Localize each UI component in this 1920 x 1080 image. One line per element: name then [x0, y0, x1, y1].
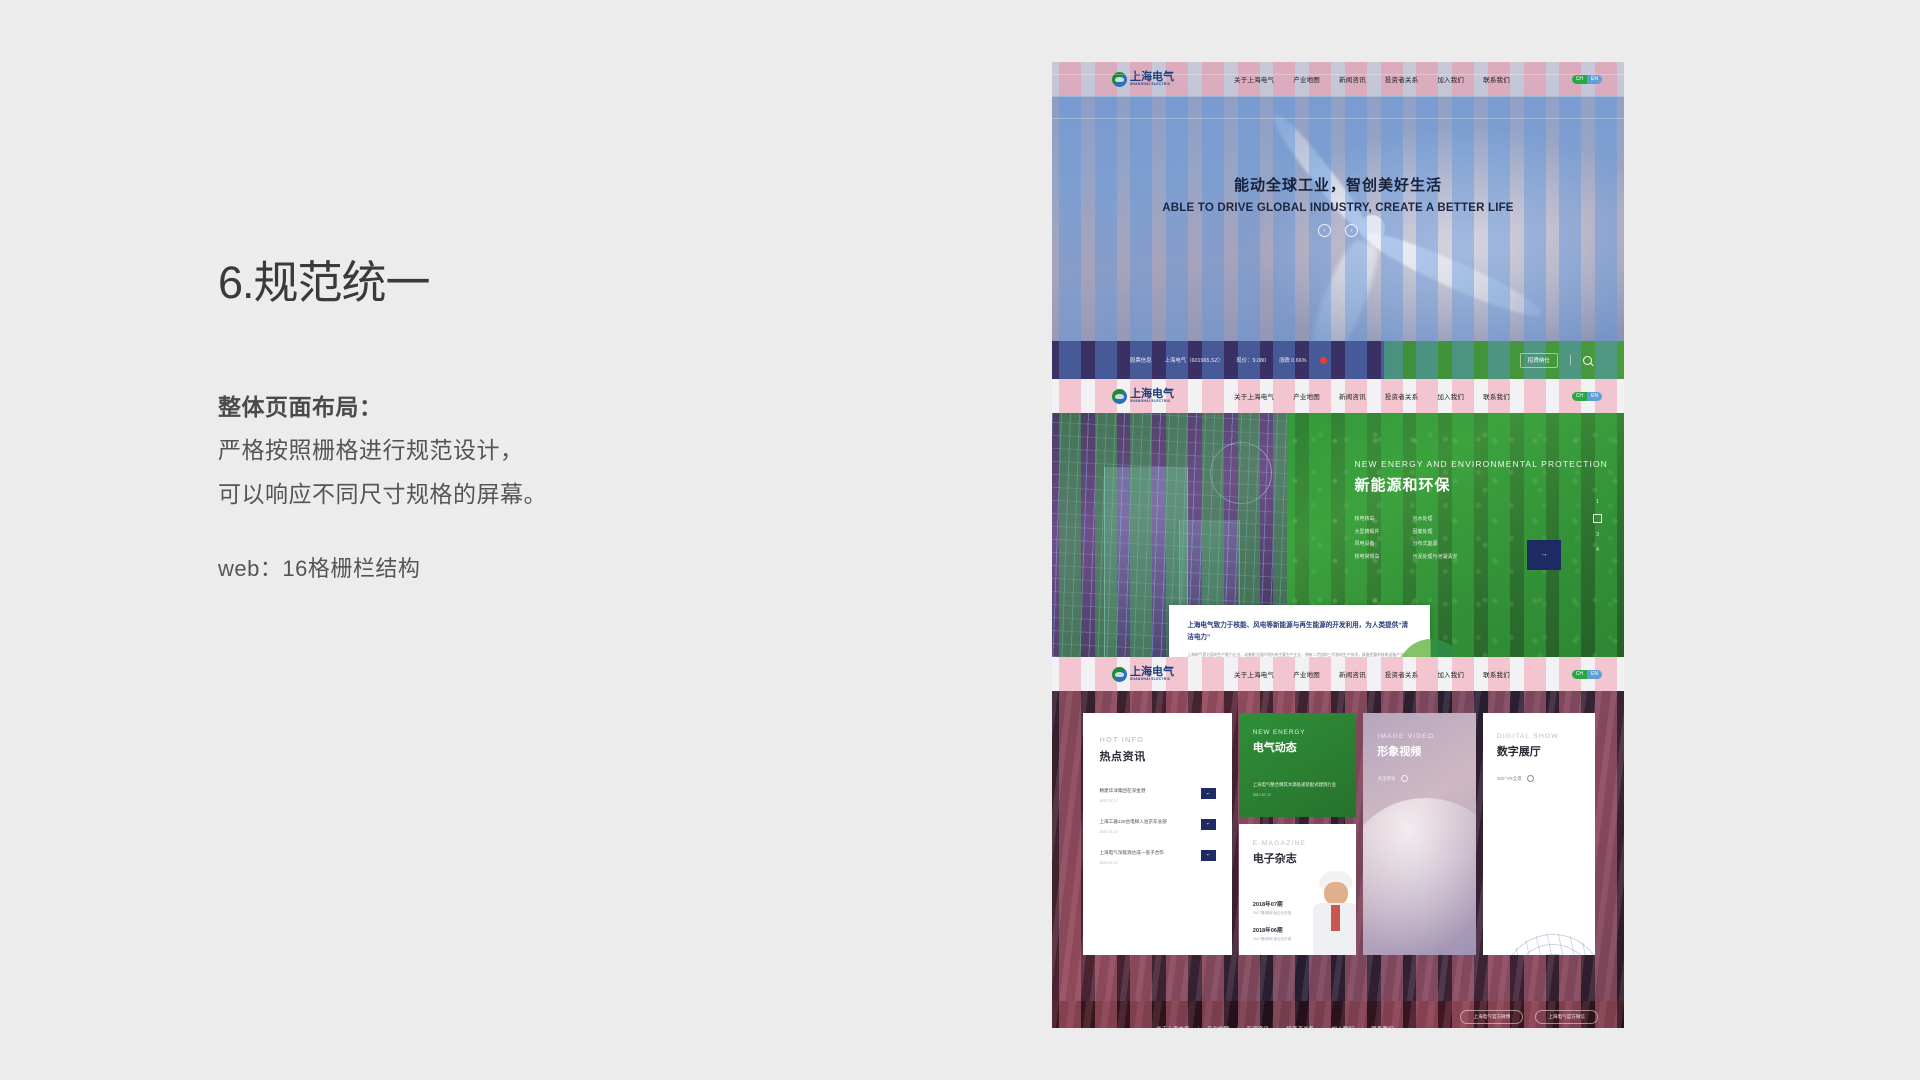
video-cta[interactable]: 点击预览: [1377, 775, 1462, 782]
list-item[interactable]: 固废处理: [1413, 528, 1458, 535]
section-pager: 1 3 4: [1593, 499, 1602, 553]
capability-list-left: 核电核岛 大型铸锻件 风电设备 核电常规岛: [1355, 515, 1380, 560]
video-title-cn: 形象视频: [1377, 743, 1462, 759]
hero-carousel-controls: ‹ ›: [1052, 224, 1624, 237]
nav-item-about[interactable]: 关于上海电气: [1234, 669, 1274, 679]
new-energy-capability-lists: 核电核岛 大型铸锻件 风电设备 核电常规岛 污水处理 固废处理 分布式能源 污泥…: [1355, 515, 1458, 560]
footer-link-contact[interactable]: 联系我们: [1371, 1025, 1393, 1028]
ticker-status-dot: [1320, 357, 1327, 364]
news-date: 2017-07-17: [1099, 830, 1194, 834]
globe-network-icon: [1501, 933, 1596, 955]
logo-label-en: SHANGHAI ELECTRIC: [1130, 678, 1174, 681]
nav-item-contact[interactable]: 联系我们: [1483, 74, 1510, 84]
footer-right: 上海电气官方微博 上海电气官方微信 欢迎访问上海电气网站，版权及登记问题本网站的…: [1460, 1010, 1598, 1028]
logo-icon: [1112, 667, 1127, 682]
vr-icon: [1527, 775, 1534, 782]
hot-info-title-en: HOT INFO: [1099, 735, 1215, 744]
new-energy-heading: NEW ENERGY AND ENVIRONMENTAL PROTECTION …: [1355, 459, 1608, 495]
digital-title-cn: 数字展厅: [1497, 743, 1582, 759]
carousel-prev-button[interactable]: ‹: [1318, 224, 1331, 237]
dynamic-title-en: NEW ENERGY: [1253, 729, 1343, 736]
digital-show-card[interactable]: DIGITAL SHOW 数字展厅 360°VR全景: [1483, 713, 1596, 955]
list-item[interactable]: 精建华洋集团在深金港 2017-07-17 ⌐: [1099, 788, 1215, 803]
dynamic-lede: 上海电气整合精其水源处递装配式建筑行业: [1253, 781, 1343, 788]
video-cta-label: 点击预览: [1377, 776, 1395, 782]
ticker-label: 股票信息: [1130, 356, 1152, 364]
nav-item-news[interactable]: 新闻咨讯: [1339, 391, 1366, 401]
ticker-actions: 招贤纳仕: [1520, 353, 1592, 368]
footer-link-about[interactable]: 关于上海电气: [1156, 1025, 1190, 1028]
nav-item-contact[interactable]: 联系我们: [1483, 391, 1510, 401]
logo-label-en: SHANGHAI ELECTRIC: [1130, 400, 1174, 403]
wind-turbine-image: [1052, 96, 1624, 341]
language-toggle[interactable]: CH EN: [1572, 670, 1602, 679]
slide-note: web：16格栅栏结构: [218, 551, 778, 583]
language-ch[interactable]: CH: [1572, 75, 1587, 84]
language-en[interactable]: EN: [1587, 75, 1602, 84]
footer-link-join-us[interactable]: 加入我们: [1332, 1025, 1354, 1028]
carousel-next-button[interactable]: ›: [1345, 224, 1358, 237]
slide-body-line-1: 严格按照栅格进行规范设计，: [218, 429, 778, 473]
divider: [1570, 355, 1571, 365]
recruit-button[interactable]: 招贤纳仕: [1520, 353, 1558, 368]
nav-links: 关于上海电气 产业地图 新闻咨讯 投资者关系 加入我们 联系我们: [1234, 391, 1510, 401]
navbar-primary: 上海电气 SHANGHAI ELECTRIC 关于上海电气 产业地图 新闻咨讯 …: [1052, 62, 1624, 96]
language-en[interactable]: EN: [1587, 392, 1602, 401]
slide-body-line-2: 可以响应不同尺寸规格的屏幕。: [218, 473, 778, 517]
language-en[interactable]: EN: [1587, 670, 1602, 679]
nav-item-news[interactable]: 新闻咨讯: [1339, 669, 1366, 679]
worker-photo: [1310, 867, 1356, 955]
footer-link-investor[interactable]: 投资者关系: [1286, 1025, 1314, 1028]
list-item[interactable]: 上海工器126台电梯入驻京东总部 2017-07-17 ⌐: [1099, 819, 1215, 834]
footer-links: 关于上海电气| 产业地图| 新闻资讯| 投资者关系| 加入我们| 联系我们: [1156, 1025, 1394, 1028]
nav-item-about[interactable]: 关于上海电气: [1234, 391, 1274, 401]
ticker-change: 涨跌 0.66%: [1279, 356, 1307, 364]
nav-item-join-us[interactable]: 加入我们: [1437, 669, 1464, 679]
hot-info-card: HOT INFO 热点资讯 精建华洋集团在深金港 2017-07-17 ⌐ 上海…: [1083, 713, 1231, 955]
dynamic-news-card[interactable]: NEW ENERGY 电气动态 上海电气整合精其水源处递装配式建筑行业 2017…: [1239, 713, 1357, 817]
nav-item-join-us[interactable]: 加入我们: [1437, 74, 1464, 84]
footer-social-buttons: 上海电气官方微博 上海电气官方微信: [1460, 1010, 1598, 1024]
news-title: 上海工器126台电梯入驻京东总部: [1099, 819, 1194, 826]
news-go-button[interactable]: ⌐: [1201, 788, 1216, 799]
emagazine-title-en: E-MAGAZINE: [1253, 840, 1343, 847]
nav-item-industry-map[interactable]: 产业地图: [1293, 669, 1320, 679]
nav-item-investor[interactable]: 投资者关系: [1385, 74, 1419, 84]
footer-link-news[interactable]: 新闻资讯: [1247, 1025, 1269, 1028]
news-title: 上海电气深能源达成一揽子合作: [1099, 850, 1194, 857]
wechat-button[interactable]: 上海电气官方微信: [1535, 1010, 1598, 1024]
list-item[interactable]: 分布式能源: [1413, 540, 1458, 547]
pager-item-4[interactable]: 4: [1596, 547, 1599, 553]
website-mockup: 上海电气 SHANGHAI ELECTRIC 关于上海电气 产业地图 新闻咨讯 …: [1052, 62, 1624, 1028]
nav-item-about[interactable]: 关于上海电气: [1234, 74, 1274, 84]
ticker-name: 上海电气（601965.SZ）: [1165, 356, 1224, 364]
logo[interactable]: 上海电气 SHANGHAI ELECTRIC: [1112, 667, 1174, 682]
nav-item-news[interactable]: 新闻咨讯: [1339, 74, 1366, 84]
emagazine-card[interactable]: E-MAGAZINE 电子杂志 2018年07期 2017第4期年度企业形象 2…: [1239, 824, 1357, 955]
emagazine-title-cn: 电子杂志: [1253, 850, 1343, 866]
logo[interactable]: 上海电气 SHANGHAI ELECTRIC: [1112, 389, 1174, 404]
digital-title-en: DIGITAL SHOW: [1497, 733, 1582, 740]
slide-body: 整体页面布局： 严格按照栅格进行规范设计， 可以响应不同尺寸规格的屏幕。 web…: [218, 386, 778, 583]
list-item[interactable]: 大型铸锻件: [1355, 528, 1380, 535]
pager-item-1[interactable]: 1: [1596, 499, 1599, 505]
nav-item-join-us[interactable]: 加入我们: [1437, 391, 1464, 401]
new-energy-title-en: NEW ENERGY AND ENVIRONMENTAL PROTECTION: [1355, 459, 1608, 469]
nav-item-investor[interactable]: 投资者关系: [1385, 391, 1419, 401]
news-date: 2017-07-17: [1099, 861, 1194, 865]
nav-links: 关于上海电气 产业地图 新闻咨讯 投资者关系 加入我们 联系我们: [1234, 74, 1510, 84]
capability-list-right: 污水处理 固废处理 分布式能源 污泥处理与河湖清淤: [1413, 515, 1458, 560]
list-item[interactable]: 上海电气深能源达成一揽子合作 2017-07-17 ⌐: [1099, 850, 1215, 865]
language-toggle[interactable]: CH EN: [1572, 75, 1602, 84]
hot-info-list: 精建华洋集团在深金港 2017-07-17 ⌐ 上海工器126台电梯入驻京东总部…: [1099, 788, 1215, 865]
logo-icon: [1112, 72, 1127, 87]
list-item[interactable]: 污泥处理与河湖清淤: [1413, 553, 1458, 560]
news-title: 精建华洋集团在深金港: [1099, 788, 1194, 795]
new-energy-title-cn: 新能源和环保: [1355, 474, 1608, 495]
digital-cta[interactable]: 360°VR全景: [1497, 775, 1582, 782]
logo-icon: [1112, 389, 1127, 404]
footer-link-industry-map[interactable]: 产业地图: [1207, 1025, 1229, 1028]
search-icon[interactable]: [1583, 356, 1592, 365]
navbar-tertiary: 上海电气 SHANGHAI ELECTRIC 关于上海电气 产业地图 新闻咨讯 …: [1052, 657, 1624, 691]
list-item[interactable]: 核电常规岛: [1355, 553, 1380, 560]
pager-item-2[interactable]: [1593, 514, 1602, 523]
news-date: 2017-07-17: [1099, 799, 1194, 803]
navbar-secondary: 上海电气 SHANGHAI ELECTRIC 关于上海电气 产业地图 新闻咨讯 …: [1052, 379, 1624, 413]
language-ch[interactable]: CH: [1572, 392, 1587, 401]
navbar-second-section: 上海电气 SHANGHAI ELECTRIC 关于上海电气 产业地图 新闻咨讯 …: [1052, 379, 1624, 413]
dynamic-date: 2017-07-17: [1253, 793, 1343, 797]
navbar-top-section: 上海电气 SHANGHAI ELECTRIC 关于上海电气 产业地图 新闻咨讯 …: [1052, 62, 1624, 96]
hero-banner: 能动全球工业，智创美好生活 ABLE TO DRIVE GLOBAL INDUS…: [1052, 96, 1624, 341]
new-energy-card: 上海电气致力于核能、风电等新能源与再生能源的开发利用，为人类提供“清洁电力” 上…: [1169, 605, 1429, 657]
site-footer: 关于上海电气| 产业地图| 新闻资讯| 投资者关系| 加入我们| 联系我们 上海…: [1052, 1001, 1624, 1028]
pager-item-3[interactable]: 3: [1596, 532, 1599, 538]
stock-ticker-info: 股票信息 上海电气（601965.SZ） 现价：9.080 涨跌 0.66%: [1130, 356, 1327, 364]
language-ch[interactable]: CH: [1572, 670, 1587, 679]
hero-headline-en: ABLE TO DRIVE GLOBAL INDUSTRY, CREATE A …: [1052, 202, 1624, 214]
card-arrow-button[interactable]: →: [1527, 540, 1561, 570]
new-energy-section: NEW ENERGY AND ENVIRONMENTAL PROTECTION …: [1052, 413, 1624, 657]
page-title: 6.规范统一: [218, 258, 778, 308]
news-card-grid: HOT INFO 热点资讯 精建华洋集团在深金港 2017-07-17 ⌐ 上海…: [1083, 713, 1595, 955]
card-title: 上海电气致力于核能、风电等新能源与再生能源的开发利用，为人类提供“清洁电力”: [1187, 620, 1411, 643]
spacer: [218, 517, 778, 551]
news-go-button[interactable]: ⌐: [1201, 819, 1216, 830]
list-item[interactable]: 污水处理: [1413, 515, 1458, 522]
hot-info-title-cn: 热点资讯: [1099, 748, 1215, 764]
nav-item-industry-map[interactable]: 产业地图: [1293, 391, 1320, 401]
nav-links: 关于上海电气 产业地图 新闻咨讯 投资者关系 加入我们 联系我们: [1234, 669, 1510, 679]
ticker-price: 现价：9.080: [1236, 356, 1266, 364]
nav-item-contact[interactable]: 联系我们: [1483, 669, 1510, 679]
hero-text: 能动全球工业，智创美好生活 ABLE TO DRIVE GLOBAL INDUS…: [1052, 174, 1624, 214]
dynamic-title-cn: 电气动态: [1253, 739, 1343, 755]
play-icon: [1401, 775, 1408, 782]
navbar-third-section: 上海电气 SHANGHAI ELECTRIC 关于上海电气 产业地图 新闻咨讯 …: [1052, 657, 1624, 691]
news-middle-column: NEW ENERGY 电气动态 上海电气整合精其水源处递装配式建筑行业 2017…: [1239, 713, 1357, 955]
hero-headline-cn: 能动全球工业，智创美好生活: [1052, 174, 1624, 195]
image-video-card[interactable]: IMAGE VIDEO 形象视频 点击预览: [1363, 713, 1476, 955]
nav-item-investor[interactable]: 投资者关系: [1385, 669, 1419, 679]
weibo-button[interactable]: 上海电气官方微博: [1460, 1010, 1523, 1024]
news-go-button[interactable]: ⌐: [1201, 850, 1216, 861]
digital-cta-label: 360°VR全景: [1497, 776, 1522, 782]
video-title-en: IMAGE VIDEO: [1377, 733, 1462, 740]
slide-subtitle: 整体页面布局：: [218, 386, 778, 430]
nav-item-industry-map[interactable]: 产业地图: [1293, 74, 1320, 84]
stock-ticker-bar: 股票信息 上海电气（601965.SZ） 现价：9.080 涨跌 0.66% 招…: [1052, 341, 1624, 379]
logo-label-en: SHANGHAI ELECTRIC: [1130, 83, 1174, 86]
list-item[interactable]: 核电核岛: [1355, 515, 1380, 522]
list-item[interactable]: 风电设备: [1355, 540, 1380, 547]
logo[interactable]: 上海电气 SHANGHAI ELECTRIC: [1112, 72, 1174, 87]
slide-text-column: 6.规范统一 整体页面布局： 严格按照栅格进行规范设计， 可以响应不同尺寸规格的…: [218, 258, 778, 583]
language-toggle[interactable]: CH EN: [1572, 392, 1602, 401]
news-section: HOT INFO 热点资讯 精建华洋集团在深金港 2017-07-17 ⌐ 上海…: [1052, 691, 1624, 1001]
